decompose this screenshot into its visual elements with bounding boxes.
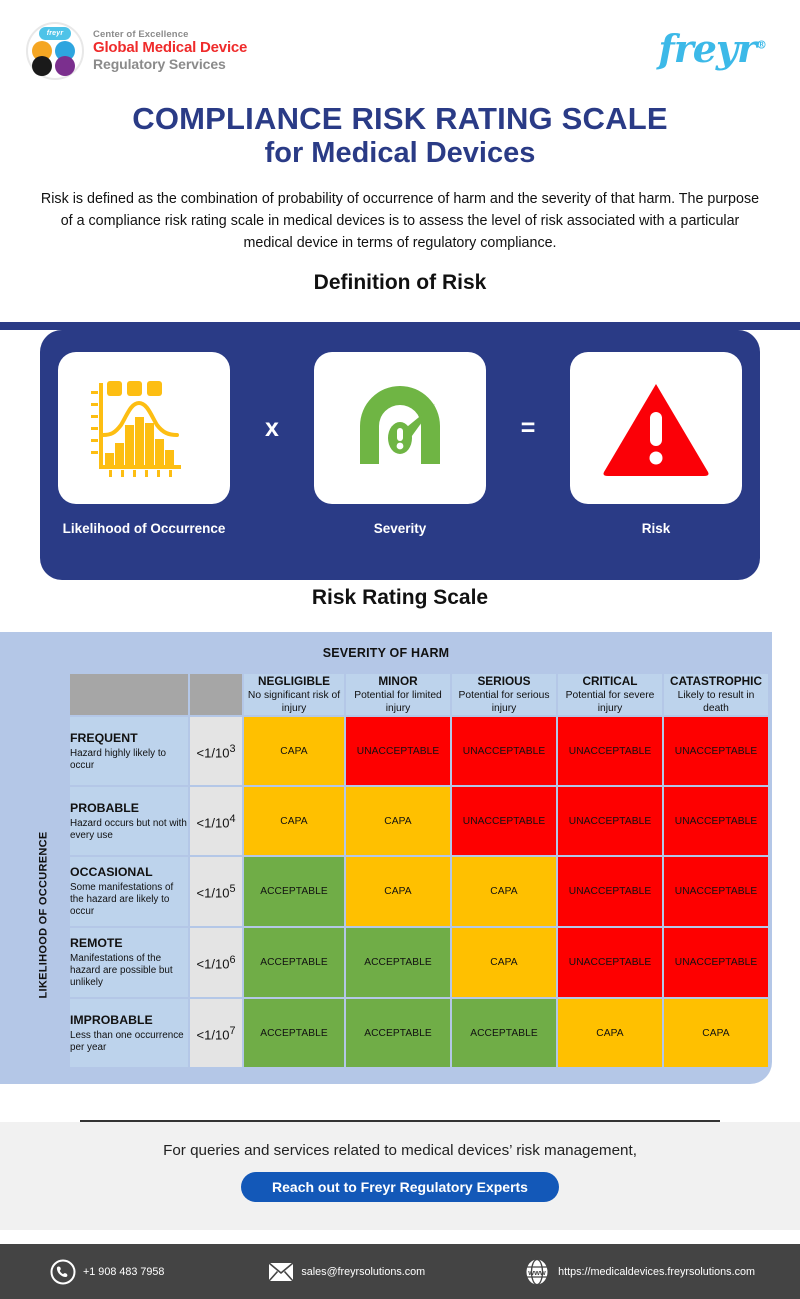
reach-out-button[interactable]: Reach out to Freyr Regulatory Experts <box>241 1172 559 1202</box>
coe-title-primary: Global Medical Device <box>93 40 247 56</box>
severity-header-subtitle: Likely to result in death <box>664 690 768 715</box>
severity-header-critical: CRITICAL Potential for severe injury <box>558 674 662 715</box>
logo-dot-purple-icon <box>55 56 75 76</box>
center-of-excellence-logo: freyr Center of Excellence Global Medica… <box>26 22 247 80</box>
severity-header-catastrophic: CATASTROPHIC Likely to result in death <box>664 674 768 715</box>
probability-exponent: 5 <box>229 883 235 895</box>
probability-remote: <1/106 <box>190 928 242 997</box>
page-header: freyr Center of Excellence Global Medica… <box>0 0 800 96</box>
risk-definition-panel: Likelihood of Occurrence x <box>40 330 760 580</box>
likelihood-label-occasional: OCCASIONAL Some manifestations of the ha… <box>70 857 188 926</box>
likelihood-row-title: PROBABLE <box>70 801 188 816</box>
severity-header-subtitle: Potential for limited injury <box>346 690 450 715</box>
table-row: OCCASIONAL Some manifestations of the ha… <box>70 857 768 926</box>
probability-frequent: <1/103 <box>190 717 242 785</box>
matrix-cell-remote-minor[interactable]: ACCEPTABLE <box>346 928 450 997</box>
freyr-brand-wordmark: freyr <box>658 26 756 71</box>
page-title-line1: COMPLIANCE RISK RATING SCALE <box>0 102 800 137</box>
severity-header-title: CATASTROPHIC <box>664 674 768 688</box>
footer-website-text: https://medicaldevices.freyrsolutions.co… <box>558 1266 755 1278</box>
equation-item-risk: Risk <box>570 352 742 536</box>
phone-icon <box>50 1259 76 1285</box>
severity-header-minor: MINOR Potential for limited injury <box>346 674 450 715</box>
probability-value: <1/10 <box>197 815 230 830</box>
intro-paragraph: Risk is defined as the combination of pr… <box>40 189 760 254</box>
severity-header-title: CRITICAL <box>558 674 662 688</box>
footer-phone-text: +1 908 483 7958 <box>83 1266 164 1278</box>
probability-improbable: <1/107 <box>190 999 242 1067</box>
coe-logo-text: Center of Excellence Global Medical Devi… <box>93 30 247 72</box>
severity-header-title: MINOR <box>346 674 450 688</box>
probability-exponent: 7 <box>229 1025 235 1037</box>
matrix-cell-improbable-minor[interactable]: ACCEPTABLE <box>346 999 450 1067</box>
matrix-cell-probable-serious[interactable]: UNACCEPTABLE <box>452 787 556 855</box>
table-row: PROBABLE Hazard occurs but not with ever… <box>70 787 768 855</box>
severity-header-subtitle: No significant risk of injury <box>244 690 344 715</box>
equation-item-likelihood: Likelihood of Occurrence <box>58 352 230 536</box>
footer-email[interactable]: sales@freyrsolutions.com <box>268 1262 425 1282</box>
equation-item-severity: Severity <box>314 352 486 536</box>
matrix-cell-occasional-serious[interactable]: CAPA <box>452 857 556 926</box>
severity-header-subtitle: Potential for serious injury <box>452 690 556 715</box>
contact-footer: +1 908 483 7958 sales@freyrsolutions.com… <box>0 1244 800 1299</box>
severity-axis-label: SEVERITY OF HARM <box>0 632 772 660</box>
coe-logo-mark: freyr <box>26 22 84 80</box>
page-title: COMPLIANCE RISK RATING SCALE for Medical… <box>0 102 800 169</box>
severity-header-subtitle: Potential for severe injury <box>558 690 662 715</box>
severity-header-negligible: NEGLIGIBLE No significant risk of injury <box>244 674 344 715</box>
registered-trademark-icon: ® <box>756 38 766 51</box>
severity-header-title: SERIOUS <box>452 674 556 688</box>
svg-text:www: www <box>527 1268 546 1277</box>
likelihood-label-frequent: FREQUENT Hazard highly likely to occur <box>70 717 188 785</box>
risk-equation-row: Likelihood of Occurrence x <box>40 330 760 536</box>
matrix-cell-remote-critical[interactable]: UNACCEPTABLE <box>558 928 662 997</box>
likelihood-label-improbable: IMPROBABLE Less than one occurrence per … <box>70 999 188 1067</box>
matrix-blank-cell-2 <box>190 674 242 715</box>
likelihood-axis-label: LIKELIHOOD OF OCCURENCE <box>33 745 53 1085</box>
matrix-cell-remote-serious[interactable]: CAPA <box>452 928 556 997</box>
globe-www-icon: www <box>523 1258 551 1286</box>
matrix-cell-occasional-negligible[interactable]: ACCEPTABLE <box>244 857 344 926</box>
matrix-cell-improbable-serious[interactable]: ACCEPTABLE <box>452 999 556 1067</box>
bar-chart-distribution-icon <box>89 377 199 479</box>
likelihood-row-title: IMPROBABLE <box>70 1013 188 1028</box>
probability-exponent: 3 <box>229 743 235 755</box>
likelihood-label-remote: REMOTE Manifestations of the hazard are … <box>70 928 188 997</box>
warning-triangle-icon <box>600 378 712 478</box>
equation-label-severity: Severity <box>314 521 486 536</box>
coe-title-secondary: Regulatory Services <box>93 57 247 72</box>
email-icon <box>268 1262 294 1282</box>
cta-text: For queries and services related to medi… <box>0 1122 800 1159</box>
severity-header-title: NEGLIGIBLE <box>244 674 344 688</box>
cta-section: For queries and services related to medi… <box>0 1122 800 1230</box>
table-row: REMOTE Manifestations of the hazard are … <box>70 928 768 997</box>
probability-occasional: <1/105 <box>190 857 242 926</box>
probability-exponent: 4 <box>229 813 235 825</box>
likelihood-row-subtitle: Hazard occurs but not with every use <box>70 818 188 842</box>
likelihood-row-title: OCCASIONAL <box>70 865 188 880</box>
likelihood-row-subtitle: Manifestations of the hazard are possibl… <box>70 953 188 989</box>
equation-operator-equals: = <box>486 352 570 504</box>
matrix-cell-remote-negligible[interactable]: ACCEPTABLE <box>244 928 344 997</box>
matrix-cell-occasional-catastrophic[interactable]: UNACCEPTABLE <box>664 857 768 926</box>
matrix-cell-frequent-catastrophic[interactable]: UNACCEPTABLE <box>664 717 768 785</box>
cta-divider-rule <box>80 1120 720 1122</box>
matrix-cell-frequent-serious[interactable]: UNACCEPTABLE <box>452 717 556 785</box>
matrix-section-title: Risk Rating Scale <box>0 586 800 610</box>
logo-dot-black-icon <box>32 56 52 76</box>
matrix-cell-frequent-minor[interactable]: UNACCEPTABLE <box>346 717 450 785</box>
severity-header-serious: SERIOUS Potential for serious injury <box>452 674 556 715</box>
equation-operator-multiply: x <box>230 352 314 504</box>
matrix-cell-frequent-critical[interactable]: UNACCEPTABLE <box>558 717 662 785</box>
probability-probable: <1/104 <box>190 787 242 855</box>
matrix-cell-probable-critical[interactable]: UNACCEPTABLE <box>558 787 662 855</box>
matrix-cell-improbable-critical[interactable]: CAPA <box>558 999 662 1067</box>
severity-icon-card <box>314 352 486 504</box>
matrix-cell-probable-catastrophic[interactable]: UNACCEPTABLE <box>664 787 768 855</box>
risk-matrix-table: NEGLIGIBLE No significant risk of injury… <box>68 672 770 1069</box>
likelihood-row-subtitle: Some manifestations of the hazard are li… <box>70 882 188 918</box>
equation-label-risk: Risk <box>570 521 742 536</box>
likelihood-row-subtitle: Hazard highly likely to occur <box>70 748 188 772</box>
likelihood-row-title: REMOTE <box>70 936 188 951</box>
footer-email-text: sales@freyrsolutions.com <box>301 1266 425 1278</box>
matrix-blank-cell-1 <box>70 674 188 715</box>
navy-divider-bar <box>0 322 800 330</box>
page-title-line2: for Medical Devices <box>0 137 800 169</box>
table-row: IMPROBABLE Less than one occurrence per … <box>70 999 768 1067</box>
matrix-cell-improbable-negligible[interactable]: ACCEPTABLE <box>244 999 344 1067</box>
footer-website[interactable]: www https://medicaldevices.freyrsolution… <box>523 1258 755 1286</box>
matrix-cell-probable-minor[interactable]: CAPA <box>346 787 450 855</box>
matrix-header-row: NEGLIGIBLE No significant risk of injury… <box>70 674 768 715</box>
probability-value: <1/10 <box>197 885 230 900</box>
matrix-cell-probable-negligible[interactable]: CAPA <box>244 787 344 855</box>
risk-icon-card <box>570 352 742 504</box>
definition-section-title: Definition of Risk <box>0 271 800 295</box>
equation-label-likelihood: Likelihood of Occurrence <box>58 521 230 536</box>
gauge-meter-icon <box>347 378 453 478</box>
table-row: FREQUENT Hazard highly likely to occur <… <box>70 717 768 785</box>
matrix-cell-improbable-catastrophic[interactable]: CAPA <box>664 999 768 1067</box>
matrix-cell-remote-catastrophic[interactable]: UNACCEPTABLE <box>664 928 768 997</box>
likelihood-row-subtitle: Less than one occurrence per year <box>70 1030 188 1054</box>
matrix-cell-occasional-critical[interactable]: UNACCEPTABLE <box>558 857 662 926</box>
probability-exponent: 6 <box>229 954 235 966</box>
likelihood-label-probable: PROBABLE Hazard occurs but not with ever… <box>70 787 188 855</box>
freyr-brand-logo: freyr® <box>658 26 766 71</box>
probability-value: <1/10 <box>197 956 230 971</box>
freyr-pill-label: freyr <box>39 27 71 40</box>
likelihood-icon-card <box>58 352 230 504</box>
matrix-cell-frequent-negligible[interactable]: CAPA <box>244 717 344 785</box>
likelihood-axis-text: LIKELIHOOD OF OCCURENCE <box>37 831 49 998</box>
probability-value: <1/10 <box>197 1027 230 1042</box>
footer-phone[interactable]: +1 908 483 7958 <box>50 1259 164 1285</box>
likelihood-row-title: FREQUENT <box>70 731 188 746</box>
probability-value: <1/10 <box>197 745 230 760</box>
matrix-cell-occasional-minor[interactable]: CAPA <box>346 857 450 926</box>
